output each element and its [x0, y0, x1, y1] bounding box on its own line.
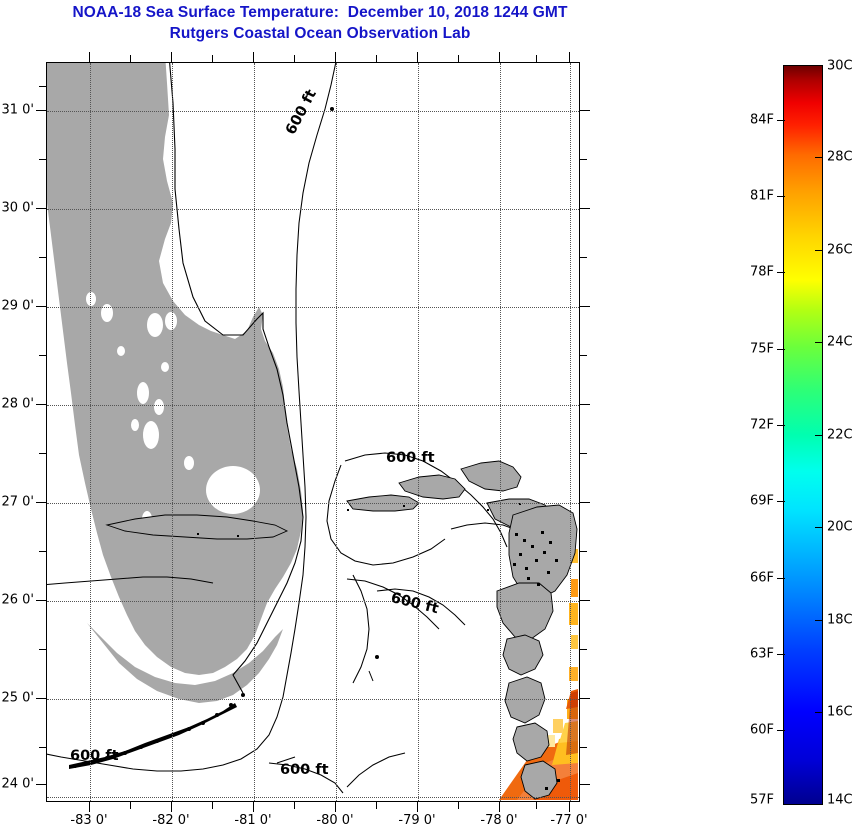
gridline-v-4 [418, 63, 419, 801]
gridline-v-5 [500, 63, 501, 801]
colorbar-c-label-3: 24C [827, 335, 853, 350]
gridline-h-0 [47, 111, 579, 112]
colorbar-f-label-1: 81F [736, 189, 774, 204]
cbtick-c-1 [815, 157, 823, 158]
ytick-minor-0 [39, 86, 46, 87]
cbtick-f-5 [777, 501, 785, 502]
colorbar-f-label-2: 78F [736, 265, 774, 280]
ytick-right-5 [580, 600, 590, 601]
colorbar[interactable] [783, 65, 823, 805]
gridline-h-1 [47, 209, 579, 210]
xlabel-0: -83 0' [70, 813, 107, 828]
ytick-right-m6 [580, 747, 587, 748]
ylabel-7: 24 0' [0, 777, 34, 792]
colorbar-c-label-0: 30C [827, 59, 853, 74]
ytick-minor-3 [39, 355, 46, 356]
xtick-top-9 [458, 55, 459, 62]
colorbar-f-label-6: 66F [736, 571, 774, 586]
cbtick-c-6 [815, 620, 823, 621]
colorbar-f-label-8: 60F [736, 723, 774, 738]
stray-marks [277, 107, 379, 763]
ytick-right-m0 [580, 159, 587, 160]
xtick-top-0 [89, 52, 90, 62]
ytick-right-7 [580, 784, 590, 785]
map-clip [47, 63, 579, 801]
lake-okeechobee [206, 466, 260, 514]
ytick-minor-1 [39, 159, 46, 160]
xtick-top-3 [212, 55, 213, 62]
chart-title-block: NOAA-18 Sea Surface Temperature: Decembe… [0, 2, 640, 44]
cbtick-c-3 [815, 342, 823, 343]
gridline-h-6 [47, 699, 579, 700]
title-line-2: Rutgers Coastal Ocean Observation Lab [0, 23, 640, 44]
xtick-minor-0 [130, 802, 131, 809]
xtick-top-7 [376, 55, 377, 62]
cbtick-f-4 [777, 425, 785, 426]
colorbar-f-label-0: 84F [736, 113, 774, 128]
gridline-h-7 [47, 797, 579, 798]
ylabel-3: 28 0' [0, 397, 34, 412]
gridline-v-1 [172, 63, 173, 801]
ylabel-6: 25 0' [0, 691, 34, 706]
cbtick-f-2 [777, 272, 785, 273]
colorbar-f-label-7: 63F [736, 647, 774, 662]
xtick-major-5 [499, 802, 500, 812]
xtick-top-1 [130, 55, 131, 62]
ytick-minor-5 [39, 551, 46, 552]
gridline-h-3 [47, 405, 579, 406]
colorbar-f-label-4: 72F [736, 418, 774, 433]
ytick-right-6 [580, 698, 590, 699]
contour-label-3: 600 ft [70, 748, 119, 764]
xtick-top-6 [335, 52, 336, 62]
ylabel-5: 26 0' [0, 593, 34, 608]
gridline-v-2 [254, 63, 255, 801]
cbtick-c-2 [815, 250, 823, 251]
ytick-right-0 [580, 110, 590, 111]
cbtick-f-0 [777, 120, 785, 121]
ytick-major-1 [36, 208, 46, 209]
ytick-right-m5 [580, 649, 587, 650]
ytick-major-4 [36, 502, 46, 503]
title-line-1: NOAA-18 Sea Surface Temperature: Decembe… [0, 2, 640, 23]
colorbar-c-label-7: 16C [827, 705, 853, 720]
colorbar-f-label-9: 57F [736, 793, 774, 808]
colorbar-c-label-5: 20C [827, 520, 853, 535]
cbtick-f-1 [777, 196, 785, 197]
xtick-minor-5 [536, 802, 537, 809]
colorbar-f-label-3: 75F [736, 342, 774, 357]
xlabel-6: -77 0' [550, 813, 587, 828]
contour-label-1: 600 ft [386, 450, 435, 466]
ytick-right-2 [580, 306, 590, 307]
ytick-right-4 [580, 502, 590, 503]
xlabel-5: -78 0' [480, 813, 517, 828]
colorbar-c-label-6: 18C [827, 613, 853, 628]
ytick-major-0 [36, 110, 46, 111]
ytick-right-m4 [580, 551, 587, 552]
gridline-v-3 [336, 63, 337, 801]
ytick-right-1 [580, 208, 590, 209]
cbtick-c-8 [815, 804, 823, 805]
contour-label-4: 600 ft [280, 762, 329, 778]
colorbar-c-label-4: 22C [827, 428, 853, 443]
ytick-minor-2 [39, 257, 46, 258]
map-geography [47, 63, 578, 800]
ytick-major-3 [36, 404, 46, 405]
ytick-right-3 [580, 404, 590, 405]
ytick-major-6 [36, 698, 46, 699]
ylabel-2: 29 0' [0, 299, 34, 314]
gridline-h-5 [47, 601, 579, 602]
ytick-minor-6 [39, 649, 46, 650]
colorbar-c-label-8: 14C [827, 793, 853, 808]
gridline-v-6 [570, 63, 571, 801]
ytick-minor-4 [39, 453, 46, 454]
xlabel-3: -80 0' [316, 813, 353, 828]
xtick-top-12 [569, 52, 570, 62]
cbtick-f-7 [777, 654, 785, 655]
cbtick-f-3 [777, 349, 785, 350]
xtick-minor-4 [458, 802, 459, 809]
colorbar-c-label-2: 26C [827, 243, 853, 258]
gridline-h-4 [47, 503, 579, 504]
xtick-major-3 [335, 802, 336, 812]
cbtick-c-7 [815, 712, 823, 713]
xtick-major-2 [253, 802, 254, 812]
xtick-minor-2 [294, 802, 295, 809]
ytick-right-m3 [580, 453, 587, 454]
xtick-top-10 [499, 52, 500, 62]
ytick-major-7 [36, 784, 46, 785]
xtick-major-4 [417, 802, 418, 812]
ytick-right-m1 [580, 257, 587, 258]
colorbar-f-label-5: 69F [736, 494, 774, 509]
ytick-minor-7 [39, 747, 46, 748]
colorbar-c-label-1: 28C [827, 150, 853, 165]
map-plot-area[interactable] [46, 62, 580, 802]
ytick-major-2 [36, 306, 46, 307]
gridline-h-2 [47, 307, 579, 308]
xtick-major-6 [569, 802, 570, 812]
cbtick-f-6 [777, 578, 785, 579]
xtick-top-4 [253, 52, 254, 62]
xtick-top-5 [294, 55, 295, 62]
xtick-minor-3 [376, 802, 377, 809]
xtick-minor-1 [212, 802, 213, 809]
cbtick-c-0 [815, 65, 823, 66]
xlabel-1: -82 0' [152, 813, 189, 828]
cbtick-c-4 [815, 435, 823, 436]
xlabel-4: -79 0' [398, 813, 435, 828]
xtick-top-2 [171, 52, 172, 62]
ylabel-0: 31 0' [0, 103, 34, 118]
xtick-major-0 [89, 802, 90, 812]
cbtick-f-8 [777, 730, 785, 731]
xtick-top-11 [536, 55, 537, 62]
ylabel-1: 30 0' [0, 201, 34, 216]
ylabel-4: 27 0' [0, 495, 34, 510]
xlabel-2: -81 0' [234, 813, 271, 828]
ytick-major-5 [36, 600, 46, 601]
xtick-top-8 [417, 52, 418, 62]
xtick-major-1 [171, 802, 172, 812]
gridline-v-0 [90, 63, 91, 801]
ytick-right-m2 [580, 355, 587, 356]
cbtick-c-5 [815, 527, 823, 528]
